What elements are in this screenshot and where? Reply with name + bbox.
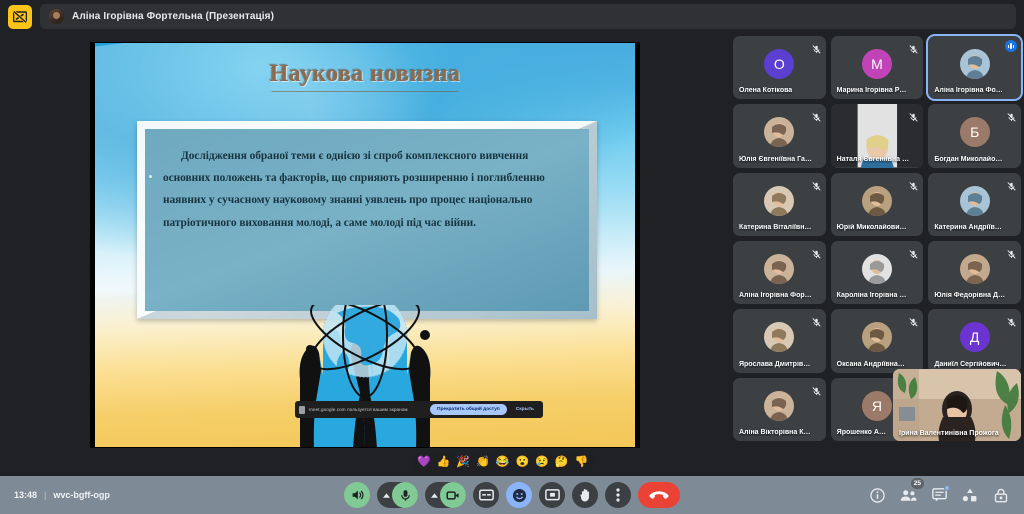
avatar [862, 186, 892, 216]
thumbs-up-reaction[interactable]: 👍 [435, 457, 453, 468]
right-controls: 25 [868, 486, 1010, 504]
participant-tile[interactable]: Аліна Вікторівна К… [733, 378, 826, 441]
avatar [764, 117, 794, 147]
participant-tile[interactable]: ДДаниїл Сергійович… [928, 309, 1021, 372]
participant-name: Богдан Миколайо… [934, 156, 1015, 163]
participant-name: Кароліна Ігорівна … [837, 292, 918, 299]
slide-body-text: Дослідження обраної теми є однією зі спр… [163, 145, 573, 234]
participant-tile[interactable]: ООлена Котікова [733, 36, 826, 99]
self-view-name: Ірина Валентинівна Прожога [899, 430, 999, 437]
slide-canvas: Наукова новизна Дослідження обраної теми… [95, 43, 635, 447]
mic-muted-icon [1007, 109, 1016, 118]
party-popper-reaction[interactable]: 🎉 [454, 457, 472, 468]
avatar [862, 254, 892, 284]
participant-name: Юлія Євгеніївна Га… [739, 156, 820, 163]
slide-text-frame: Дослідження обраної теми є однією зі спр… [137, 121, 597, 319]
people-button[interactable]: 25 [899, 486, 917, 504]
camera-button[interactable] [425, 482, 466, 508]
microphone-button[interactable] [377, 482, 418, 508]
participant-name: Катерина Андріїв… [934, 224, 1015, 231]
end-call-button[interactable] [638, 482, 680, 508]
mic-muted-icon [909, 41, 918, 50]
bottom-bar: 13:48 | wvc-bgff-ogp [0, 476, 1024, 514]
participant-name: Наталя Євгеніївна … [837, 156, 918, 163]
captions-button[interactable] [473, 482, 499, 508]
mic-muted-icon [812, 178, 821, 187]
cry-reaction[interactable]: 😢 [533, 457, 551, 468]
participant-tile[interactable]: Аліна Ігорівна Фор… [733, 241, 826, 304]
present-now-button[interactable] [539, 482, 565, 508]
chat-unread-dot [944, 485, 950, 491]
avatar: Б [960, 117, 990, 147]
host-controls-button[interactable] [992, 486, 1010, 504]
participant-name: Ярослава Дмитрів… [739, 361, 820, 368]
participant-tile[interactable]: ММарина Ігорівна Р… [831, 36, 924, 99]
more-options-button[interactable] [605, 482, 631, 508]
clap-reaction[interactable]: 👏 [474, 457, 492, 468]
avatar [764, 391, 794, 421]
participant-name: Катерина Віталіївн… [739, 224, 820, 231]
avatar [764, 322, 794, 352]
participant-name: Аліна Ігорівна Фор… [739, 292, 820, 299]
screen-share-notification: meet.google.com пользуется вашим экраном… [295, 401, 543, 418]
meeting-info: 13:48 | wvc-bgff-ogp [14, 490, 110, 500]
mic-muted-icon [909, 314, 918, 323]
meeting-info-separator: | [44, 490, 46, 500]
participant-name: Олена Котікова [739, 87, 820, 94]
mic-muted-icon [909, 109, 918, 118]
participant-tile[interactable]: Катерина Андріїв… [928, 173, 1021, 236]
mic-muted-icon [1007, 314, 1016, 323]
thinking-reaction[interactable]: 🤔 [553, 457, 571, 468]
participant-tile[interactable]: Юлія Євгеніївна Га… [733, 104, 826, 167]
hide-notification-button[interactable]: Скрыть [511, 407, 539, 412]
avatar [960, 254, 990, 284]
mic-muted-icon [1007, 178, 1016, 187]
thumbs-down-reaction[interactable]: 👎 [573, 457, 591, 468]
emoji-reaction-bar[interactable]: 💜👍🎉👏😂😮😢🤔👎 [410, 453, 595, 472]
meeting-time: 13:48 [14, 490, 37, 500]
avatar [960, 49, 990, 79]
avatar [764, 254, 794, 284]
avatar [49, 9, 64, 24]
participant-name: Юрій Миколайови… [837, 224, 918, 231]
google-meet-window: Аліна Ігорівна Фортельна (Презентація) Н… [0, 0, 1024, 514]
chevron-up-icon[interactable] [429, 493, 439, 498]
raise-hand-button[interactable] [572, 482, 598, 508]
participant-tile[interactable]: Катерина Віталіївн… [733, 173, 826, 236]
avatar: Д [960, 322, 990, 352]
top-bar: Аліна Ігорівна Фортельна (Презентація) [0, 0, 1024, 33]
joy-reaction[interactable]: 😂 [494, 457, 512, 468]
mic-muted-icon [812, 41, 821, 50]
participant-tile[interactable]: Юлія Федорівна Д… [928, 241, 1021, 304]
mic-muted-icon [909, 178, 918, 187]
self-view-tile[interactable]: Ірина Валентинівна Прожога [893, 369, 1021, 441]
heart-reaction[interactable]: 💜 [415, 457, 433, 468]
avatar [764, 186, 794, 216]
people-count-badge: 25 [911, 478, 924, 489]
camera-icon[interactable] [440, 482, 466, 508]
participant-tile[interactable]: Аліна Ігорівна Фо… [928, 36, 1021, 99]
microphone-icon[interactable] [392, 482, 418, 508]
meeting-code[interactable]: wvc-bgff-ogp [53, 490, 110, 500]
participant-tile[interactable]: Ярослава Дмитрів… [733, 309, 826, 372]
activities-button[interactable] [961, 486, 979, 504]
avatar: О [764, 49, 794, 79]
bullet-icon [149, 175, 152, 178]
participant-tile[interactable]: Кароліна Ігорівна … [831, 241, 924, 304]
mic-muted-icon [812, 246, 821, 255]
presenter-name: Аліна Ігорівна Фортельна (Презентація) [72, 11, 274, 22]
participant-name: Аліна Вікторівна К… [739, 429, 820, 436]
stop-sharing-button[interactable]: Прекратить общий доступ [430, 404, 507, 415]
screen-share-icon [299, 406, 305, 414]
mic-muted-icon [909, 246, 918, 255]
slide-title-underline [272, 91, 459, 92]
shared-slide: Наукова новизна Дослідження обраної теми… [90, 42, 640, 448]
participant-name: Юлія Федорівна Д… [934, 292, 1015, 299]
mic-muted-icon [812, 109, 821, 118]
slide-text-frame-inner: Дослідження обраної теми є однією зі спр… [145, 129, 589, 311]
participant-tile[interactable]: Юрій Миколайови… [831, 173, 924, 236]
speaker-button[interactable] [344, 482, 370, 508]
avatar [862, 322, 892, 352]
mic-muted-icon [812, 383, 821, 392]
chevron-up-icon[interactable] [381, 493, 391, 498]
slide-title: Наукова новизна [95, 61, 635, 88]
participant-tile[interactable]: ББогдан Миколайо… [928, 104, 1021, 167]
avatar: Я [862, 391, 892, 421]
surprised-reaction[interactable]: 😮 [514, 457, 532, 468]
participant-tile[interactable]: Оксана Андріївна… [831, 309, 924, 372]
chat-button[interactable] [930, 486, 948, 504]
speaking-indicator-icon [1005, 40, 1017, 52]
participant-tile[interactable]: Наталя Євгеніївна … [831, 104, 924, 167]
avatar [960, 186, 990, 216]
reactions-button[interactable] [506, 482, 532, 508]
mic-muted-icon [812, 314, 821, 323]
participant-name: Марина Ігорівна Р… [837, 87, 918, 94]
participant-name: Даниїл Сергійович… [934, 361, 1015, 368]
presenter-pill[interactable]: Аліна Ігорівна Фортельна (Презентація) [40, 4, 1016, 29]
participant-name: Аліна Ігорівна Фо… [934, 87, 1015, 94]
hands-holding-atom-globe-icon [95, 305, 635, 447]
call-controls [344, 482, 680, 508]
presentation-off-icon[interactable] [8, 5, 32, 29]
mic-muted-icon [1007, 246, 1016, 255]
presentation-stage[interactable]: Наукова новизна Дослідження обраної теми… [0, 33, 728, 476]
screen-share-text: meet.google.com пользуется вашим экраном [309, 407, 426, 412]
participant-name: Оксана Андріївна… [837, 361, 918, 368]
meeting-details-button[interactable] [868, 486, 886, 504]
avatar: М [862, 49, 892, 79]
